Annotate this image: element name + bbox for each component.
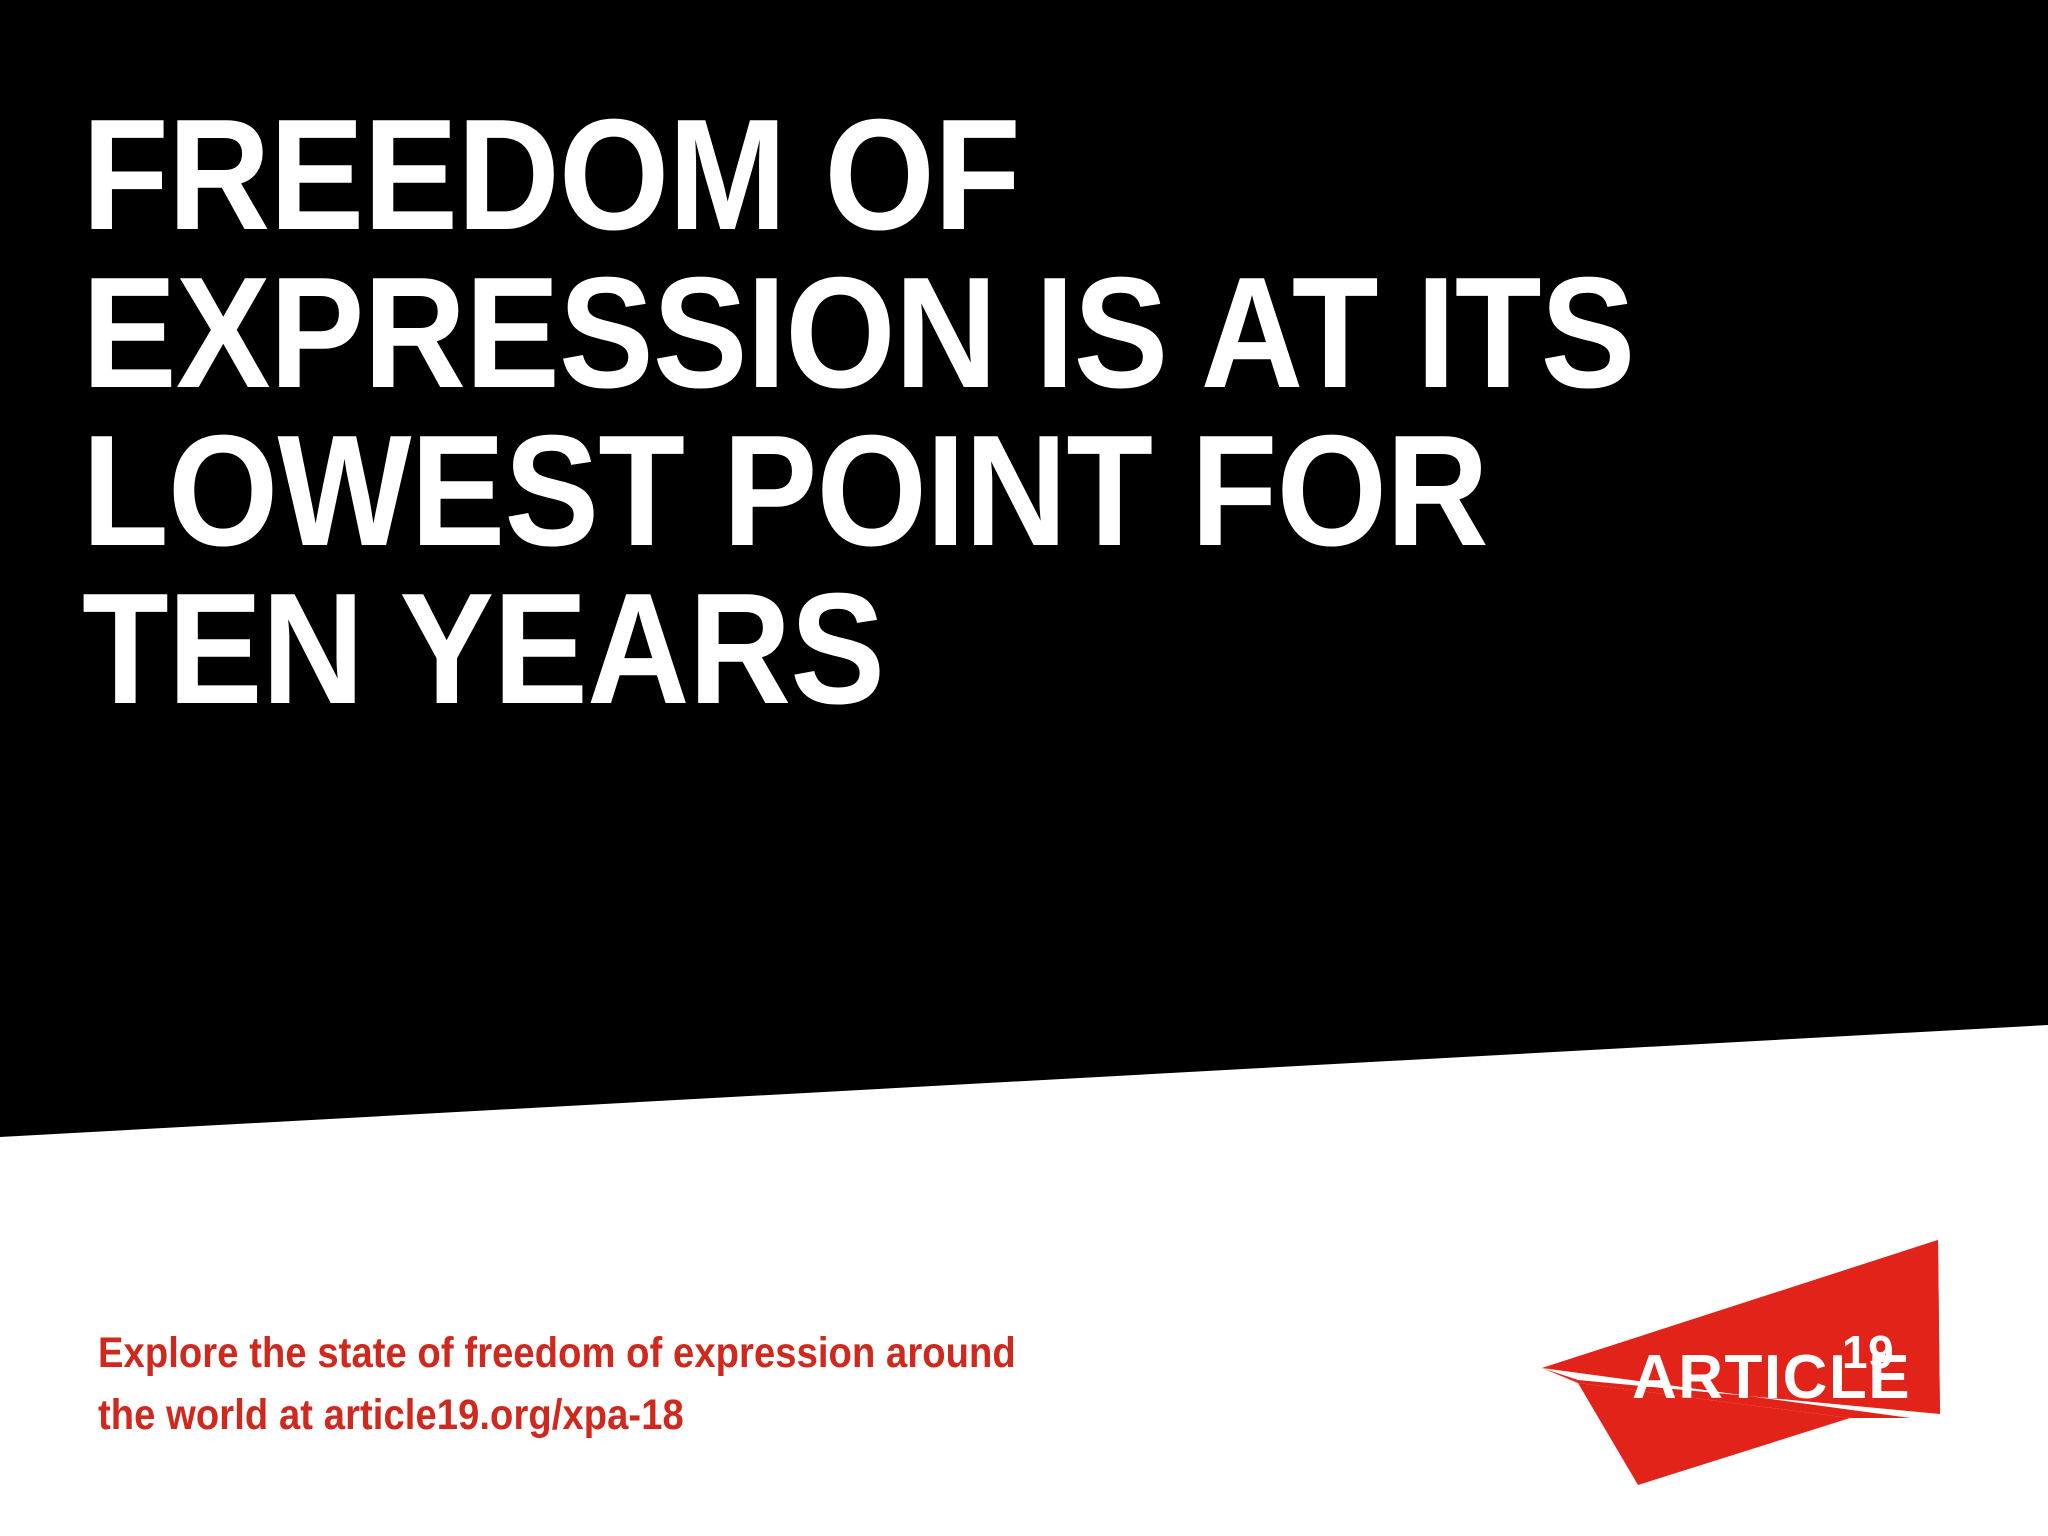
poster-canvas: FREEDOM OF EXPRESSION IS AT ITS LOWEST P… <box>0 0 2048 1536</box>
headline-line-2: EXPRESSION IS AT ITS <box>82 254 1772 412</box>
headline-line-1: FREEDOM OF <box>82 96 1772 254</box>
logo-superscript: 19 <box>1842 1326 1894 1378</box>
page-title: FREEDOM OF EXPRESSION IS AT ITS LOWEST P… <box>82 96 1962 728</box>
tagline: Explore the state of freedom of expressi… <box>98 1322 1133 1446</box>
headline-line-3: LOWEST POINT FOR <box>82 412 1772 570</box>
tagline-line-2[interactable]: the world at article19.org/xpa-18 <box>98 1384 1016 1446</box>
article19-logo[interactable]: ARTICLE 19 <box>1520 1200 1960 1500</box>
headline-line-4: TEN YEARS <box>82 570 1772 728</box>
tagline-line-1: Explore the state of freedom of expressi… <box>98 1322 1016 1384</box>
